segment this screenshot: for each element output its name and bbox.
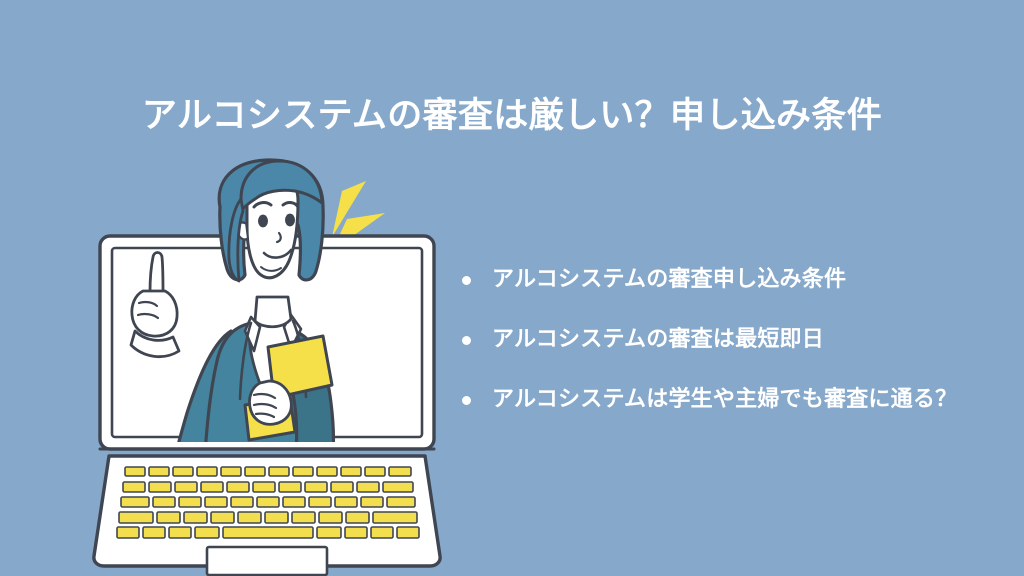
bullet-dot-icon (462, 336, 471, 345)
list-item: アルコシステムは学生や主婦でも審査に通る？ (462, 386, 1014, 446)
list-item-label: アルコシステムの審査申し込み条件 (492, 266, 846, 292)
eyecatch-slide: アルコシステムの審査は厳しい？申し込み条件 アルコシステムの審査申し込み条件 ア… (0, 0, 1024, 576)
woman-head (219, 160, 323, 281)
page-title: アルコシステムの審査は厳しい？申し込み条件 (0, 96, 1024, 136)
bullet-dot-icon (462, 396, 471, 405)
bullet-dot-icon (462, 276, 471, 285)
laptop-base (94, 456, 440, 575)
list-item-label: アルコシステムは学生や主婦でも審査に通る？ (492, 386, 957, 412)
woman-right-hand (249, 381, 291, 424)
laptop-trackpad (207, 547, 327, 575)
illustration-businesswoman-laptop (55, 155, 465, 576)
bullet-list: アルコシステムの審査申し込み条件 アルコシステムの審査は最短即日 アルコシステム… (462, 266, 1014, 446)
list-item: アルコシステムの審査は最短即日 (462, 326, 1014, 386)
list-item: アルコシステムの審査申し込み条件 (462, 266, 1014, 326)
list-item-label: アルコシステムの審査は最短即日 (492, 326, 824, 352)
